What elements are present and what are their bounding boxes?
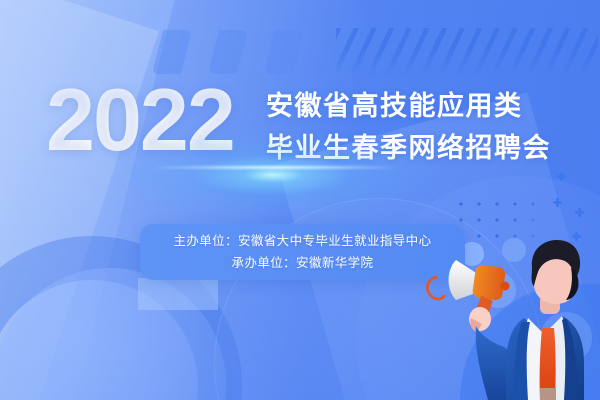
megaphone-strap xyxy=(427,277,444,299)
person-with-megaphone-illustration xyxy=(416,238,600,400)
title-lines: 安徽省高技能应用类 毕业生春季网络招聘会 xyxy=(266,86,551,170)
trousers xyxy=(540,388,556,400)
illustration-bubble-dot xyxy=(502,238,526,262)
organizer-line: 主办单位：安徽省大中专毕业生就业指导中心 xyxy=(173,230,431,252)
plus-mark-icon xyxy=(575,208,584,217)
megaphone-icon xyxy=(427,260,509,319)
year-text: 2022 xyxy=(46,76,234,164)
megaphone-body xyxy=(472,264,506,301)
title-line-2: 毕业生春季网络招聘会 xyxy=(266,128,551,170)
decorative-square xyxy=(138,278,218,310)
megaphone-button xyxy=(501,282,510,291)
dot-grid-decoration xyxy=(452,196,548,242)
hexagon-shape xyxy=(264,30,304,74)
light-glow-bar xyxy=(150,166,400,169)
co-organizer-line: 承办单位：安徽新华学院 xyxy=(232,252,374,274)
title-line-1: 安徽省高技能应用类 xyxy=(266,86,551,128)
hexagon-shape xyxy=(152,30,192,74)
hexagon-decoration-row xyxy=(152,30,360,74)
recruitment-banner: 2022 安徽省高技能应用类 毕业生春季网络招聘会 主办单位：安徽省大中专毕业生… xyxy=(0,0,600,400)
diagonal-stripes-decoration xyxy=(336,28,598,76)
light-ray-left xyxy=(0,0,159,400)
hexagon-shape xyxy=(208,30,248,74)
plus-mark-icon xyxy=(553,198,562,207)
